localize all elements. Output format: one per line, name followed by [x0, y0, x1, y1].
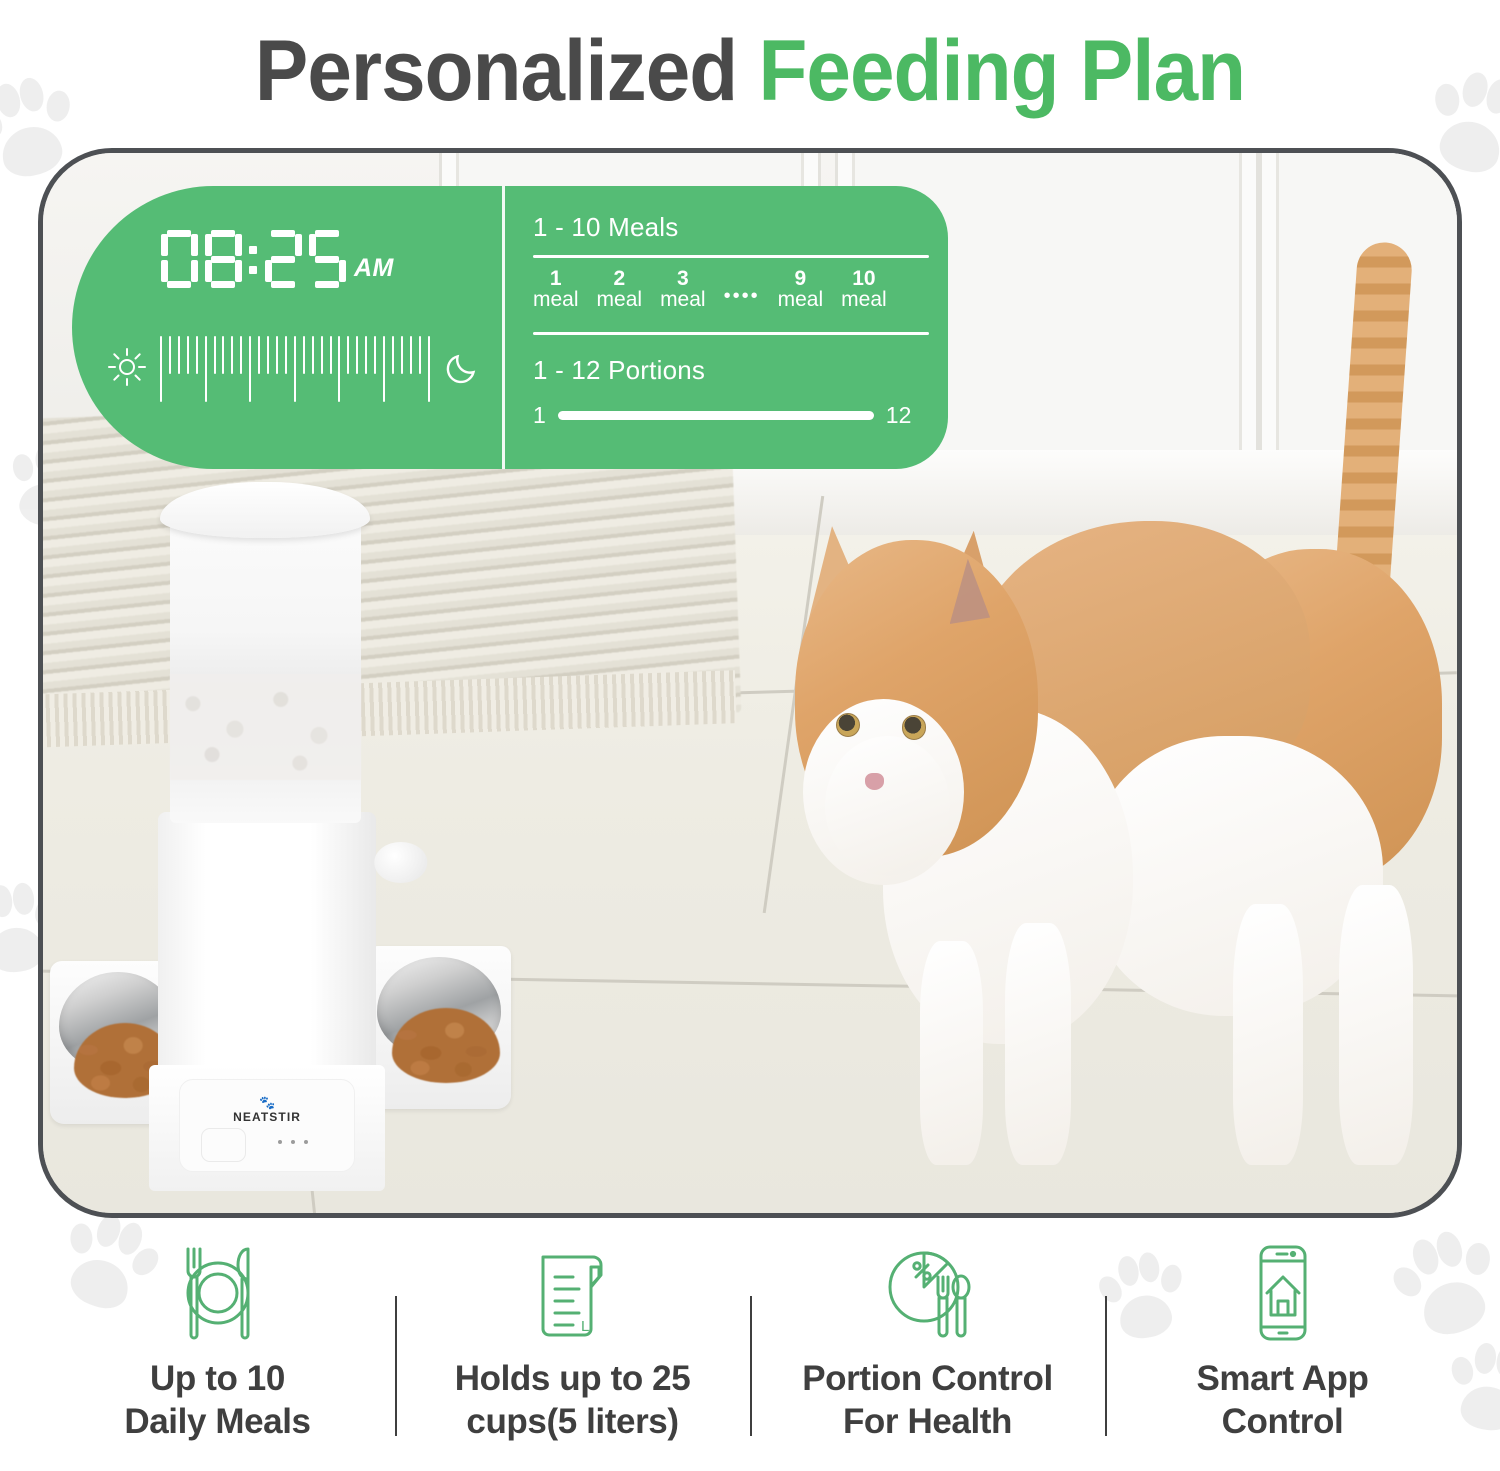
schedule-clock-section: AM — [72, 186, 502, 469]
meal-option-unit: meal — [841, 289, 887, 310]
clock-hours — [160, 230, 242, 288]
meal-option-number: 2 — [597, 268, 643, 289]
feature-label-line1: Smart App — [1196, 1359, 1368, 1398]
meal-option-unit: meal — [597, 289, 643, 310]
portions-divider — [533, 332, 929, 335]
meal-option-number: 1 — [533, 268, 579, 289]
portions-slider-min: 1 — [533, 402, 546, 429]
meal-option[interactable]: 1 meal — [533, 268, 579, 311]
feeding-schedule-card: AM — [72, 186, 948, 469]
cat-leg — [1005, 923, 1071, 1166]
hopper-kibble-level — [170, 674, 361, 780]
plate-percent-fork-spoon-icon — [876, 1240, 980, 1346]
led-indicator — [278, 1140, 282, 1144]
meal-option[interactable]: 2 meal — [597, 268, 643, 311]
feature-label-line2: Control — [1222, 1402, 1344, 1441]
moon-icon — [442, 346, 484, 393]
timeline-ticks — [160, 336, 430, 402]
clock-colon — [242, 230, 264, 288]
clock-meridiem: AM — [354, 254, 394, 283]
food-bowl-right — [366, 946, 511, 1109]
cat-eye — [836, 713, 860, 737]
meal-option[interactable]: 10 meal — [841, 268, 887, 311]
feature-label: Holds up to 25 cups(5 liters) — [455, 1358, 691, 1443]
measuring-jug-icon: L — [521, 1240, 625, 1346]
lcd-digit-2 — [264, 230, 302, 288]
led-indicators — [278, 1140, 308, 1144]
feature-label: Up to 10 Daily Meals — [124, 1358, 310, 1443]
page-title: Personalized Feeding Plan — [53, 26, 1448, 116]
schedule-settings-section: 1 - 10 Meals 1 meal 2 meal 3 meal •••• 9… — [502, 186, 969, 469]
lcd-clock: AM — [160, 230, 394, 288]
portions-slider[interactable]: 1 12 — [533, 402, 929, 429]
feature-capacity: L Holds up to 25 cups(5 liters) — [395, 1240, 750, 1460]
meal-options-row: 1 meal 2 meal 3 meal •••• 9 meal 10 meal — [533, 268, 929, 311]
meal-options-ellipsis: •••• — [724, 285, 760, 310]
feature-app-control: Smart App Control — [1105, 1240, 1460, 1460]
meals-heading: 1 - 10 Meals — [533, 212, 929, 243]
feature-label-line1: Portion Control — [802, 1359, 1053, 1398]
jug-unit-label: L — [581, 1318, 589, 1335]
paw-print-icon: 🐾 — [259, 1095, 275, 1111]
feature-strip: Up to 10 Daily Meals L Holds up to 25 cu… — [40, 1240, 1460, 1460]
meal-option-number: 9 — [778, 268, 824, 289]
meal-option-unit: meal — [660, 289, 706, 310]
cat-leg — [1233, 904, 1303, 1165]
meal-option-number: 10 — [841, 268, 887, 289]
lcd-digit-8 — [204, 230, 242, 288]
portions-slider-max: 12 — [886, 402, 912, 429]
meal-option-unit: meal — [778, 289, 824, 310]
feature-label: Portion Control For Health — [802, 1358, 1053, 1443]
feeder-control-plate: 🐾 NEATSTIR — [179, 1079, 355, 1172]
title-part-highlight: Feeding Plan — [758, 23, 1245, 119]
feature-label: Smart App Control — [1196, 1358, 1368, 1443]
dispense-port-button[interactable] — [374, 842, 427, 883]
led-indicator — [291, 1140, 295, 1144]
cat-leg — [1339, 885, 1413, 1165]
feature-portion-control: Portion Control For Health — [750, 1240, 1105, 1460]
hopper-lid — [160, 482, 370, 538]
feature-label-line2: Daily Meals — [124, 1402, 310, 1441]
clock-minutes — [264, 230, 346, 288]
brand-label: NEATSTIR — [233, 1110, 301, 1124]
automatic-pet-feeder: 🐾 NEATSTIR — [57, 471, 821, 1213]
meals-divider — [533, 255, 929, 258]
feature-daily-meals: Up to 10 Daily Meals — [40, 1240, 395, 1460]
feature-label-line2: For Health — [843, 1402, 1012, 1441]
portions-heading: 1 - 12 Portions — [533, 355, 929, 386]
feature-label-line1: Holds up to 25 — [455, 1359, 691, 1398]
feature-label-line1: Up to 10 — [150, 1359, 285, 1398]
sun-icon — [106, 346, 148, 393]
cat-eye — [902, 715, 926, 739]
day-night-timeline — [106, 336, 484, 402]
lcd-digit-0 — [160, 230, 198, 288]
lcd-digit-5 — [308, 230, 346, 288]
meal-option-number: 3 — [660, 268, 706, 289]
title-part-primary: Personalized — [255, 23, 737, 119]
meal-option-unit: meal — [533, 289, 579, 310]
portions-slider-track[interactable] — [558, 411, 874, 420]
led-indicator — [304, 1140, 308, 1144]
meal-option[interactable]: 9 meal — [778, 268, 824, 311]
cat-muzzle — [825, 736, 950, 876]
meal-option[interactable]: 3 meal — [660, 268, 706, 311]
feeder-power-button[interactable] — [201, 1128, 246, 1162]
plate-fork-knife-icon — [166, 1240, 270, 1346]
cat-leg — [920, 941, 982, 1165]
food-hopper — [170, 512, 361, 824]
smartphone-home-icon — [1231, 1240, 1335, 1346]
feature-label-line2: cups(5 liters) — [466, 1402, 678, 1441]
